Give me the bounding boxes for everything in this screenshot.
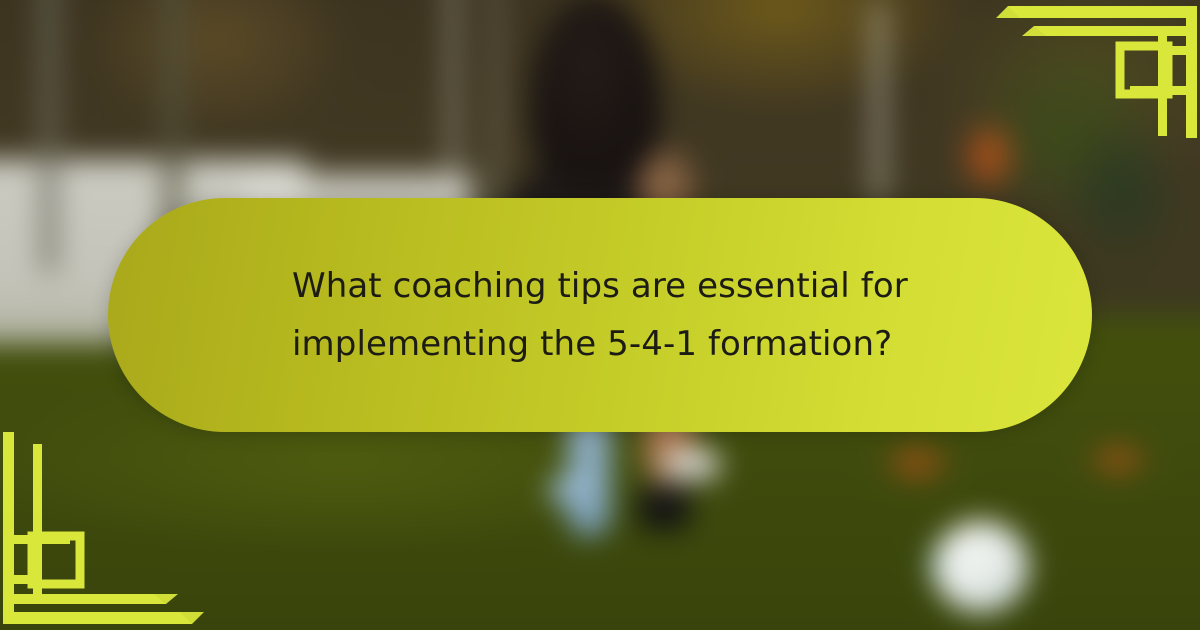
background-player-shoe-2 [549,478,595,504]
background-post-left [37,0,63,272]
question-line-2: implementing the 5-4-1 formation? [292,315,908,373]
promo-card-image: What coaching tips are essential for imp… [0,0,1200,630]
question-text: What coaching tips are essential for imp… [292,257,908,373]
corner-ornament-bottom-left-icon [0,430,210,630]
background-player-hair [530,0,660,186]
background-player-sock [638,485,690,529]
background-post-right [869,3,889,202]
question-card: What coaching tips are essential for imp… [108,198,1092,432]
background-orange-blob-2 [882,443,952,483]
question-line-1: What coaching tips are essential for [292,257,908,315]
background-pole-middle-2 [491,0,501,216]
background-orange-blob-3 [1086,443,1150,477]
background-player-shoe [664,450,720,480]
corner-ornament-top-right-icon [990,0,1200,140]
background-soccer-ball [933,521,1029,613]
